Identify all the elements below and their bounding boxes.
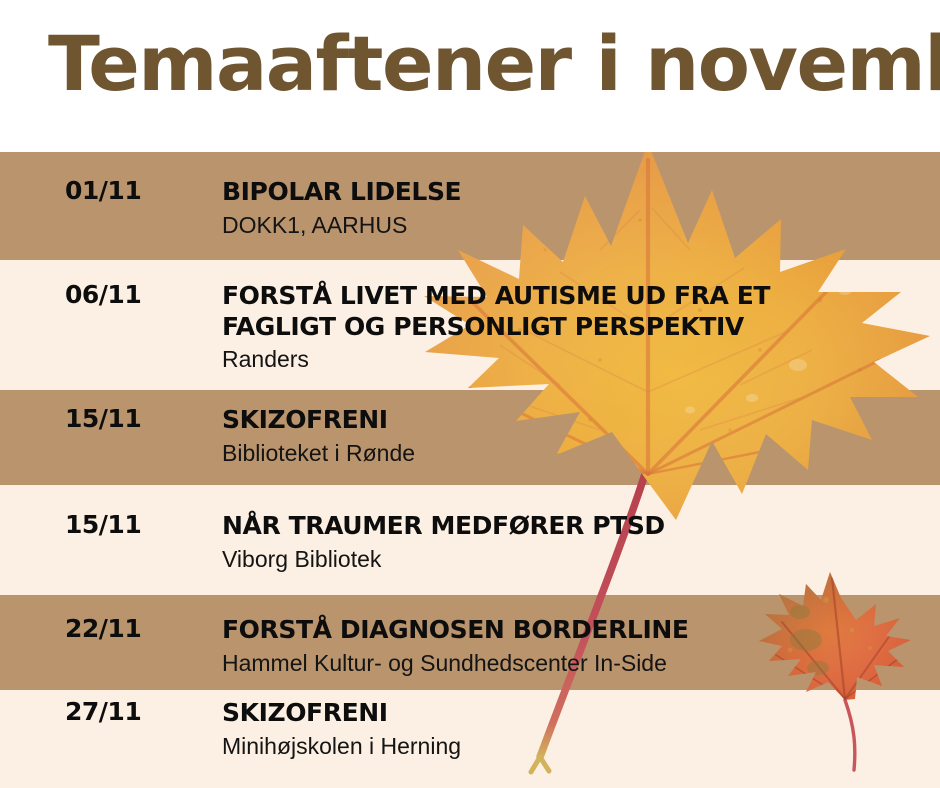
- event-row-4[interactable]: 15/11 NÅR TRAUMER MEDFØRER PTSD Viborg B…: [0, 511, 940, 573]
- event-row-3[interactable]: 15/11 SKIZOFRENI Biblioteket i Rønde: [0, 405, 940, 467]
- event-venue: Hammel Kultur- og Sundhedscenter In-Side: [222, 649, 940, 678]
- event-date: 01/11: [0, 177, 160, 205]
- event-title: FORSTÅ LIVET MED AUTISME UD FRA ET FAGLI…: [222, 281, 940, 342]
- event-date: 06/11: [0, 281, 160, 309]
- event-title: BIPOLAR LIDELSE: [222, 177, 940, 208]
- event-row-5[interactable]: 22/11 FORSTÅ DIAGNOSEN BORDERLINE Hammel…: [0, 615, 940, 677]
- event-body: FORSTÅ DIAGNOSEN BORDERLINE Hammel Kultu…: [160, 615, 940, 677]
- event-title: NÅR TRAUMER MEDFØRER PTSD: [222, 511, 940, 542]
- event-title: SKIZOFRENI: [222, 405, 940, 436]
- event-date: 15/11: [0, 511, 160, 539]
- page-title: Temaaftener i november: [48, 26, 940, 102]
- event-venue: Viborg Bibliotek: [222, 545, 940, 574]
- event-row-1[interactable]: 01/11 BIPOLAR LIDELSE DOKK1, AARHUS: [0, 177, 940, 239]
- event-body: SKIZOFRENI Biblioteket i Rønde: [160, 405, 940, 467]
- event-date: 27/11: [0, 698, 160, 726]
- event-row-2[interactable]: 06/11 FORSTÅ LIVET MED AUTISME UD FRA ET…: [0, 281, 940, 374]
- event-date: 15/11: [0, 405, 160, 433]
- event-body: FORSTÅ LIVET MED AUTISME UD FRA ET FAGLI…: [160, 281, 940, 374]
- event-venue: DOKK1, AARHUS: [222, 211, 940, 240]
- event-title: FORSTÅ DIAGNOSEN BORDERLINE: [222, 615, 940, 646]
- poster-header: Temaaftener i november: [0, 0, 940, 152]
- event-venue: Biblioteket i Rønde: [222, 439, 940, 468]
- event-body: BIPOLAR LIDELSE DOKK1, AARHUS: [160, 177, 940, 239]
- event-title: SKIZOFRENI: [222, 698, 940, 729]
- event-row-6[interactable]: 27/11 SKIZOFRENI Minihøjskolen i Herning: [0, 698, 940, 760]
- event-body: NÅR TRAUMER MEDFØRER PTSD Viborg Bibliot…: [160, 511, 940, 573]
- event-date: 22/11: [0, 615, 160, 643]
- poster-canvas: Temaaftener i november 01/11 BIPOLAR LID…: [0, 0, 940, 788]
- event-venue: Randers: [222, 345, 940, 374]
- event-body: SKIZOFRENI Minihøjskolen i Herning: [160, 698, 940, 760]
- event-venue: Minihøjskolen i Herning: [222, 732, 940, 761]
